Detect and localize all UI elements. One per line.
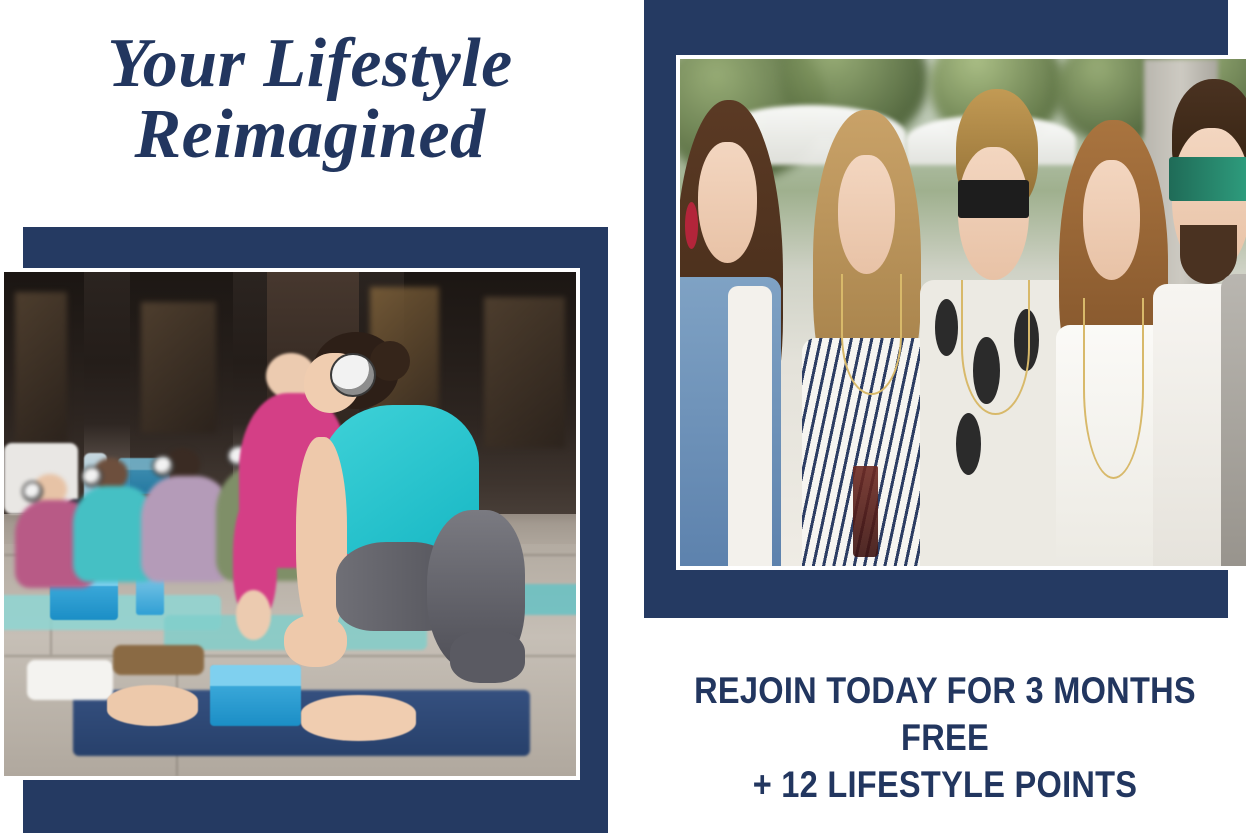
cta-line-1: REJOIN TODAY FOR 3 MONTHS FREE	[694, 670, 1196, 758]
outdoor-yoga-class-photo	[0, 268, 580, 780]
cta-line-2: + 12 LIFESTYLE POINTS	[681, 762, 1209, 809]
rooftop-social-party-photo	[676, 55, 1250, 570]
cta-offer-text: REJOIN TODAY FOR 3 MONTHS FREE + 12 LIFE…	[681, 668, 1209, 809]
headline-line-2: Reimagined	[20, 99, 600, 170]
headline-line-1: Your Lifestyle	[107, 25, 513, 102]
page-title: Your Lifestyle Reimagined	[20, 28, 600, 171]
promo-poster: Your Lifestyle Reimagined	[0, 0, 1250, 833]
